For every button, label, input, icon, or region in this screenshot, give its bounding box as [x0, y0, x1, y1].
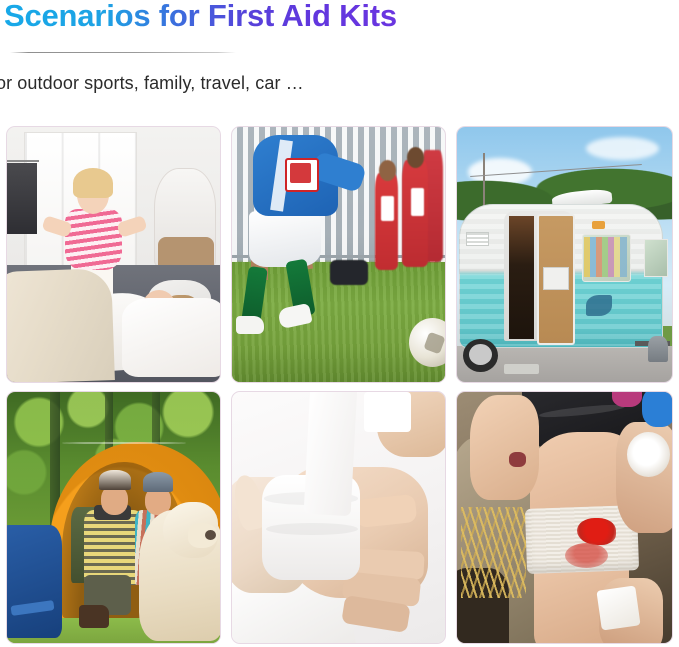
dog-nose — [205, 530, 216, 540]
man-beanie — [99, 470, 131, 490]
bib-logo — [290, 163, 311, 183]
bandage-roll-upper — [627, 432, 670, 477]
wardrobe-clothes — [7, 163, 37, 234]
title-divider — [10, 52, 236, 53]
dry-grass — [461, 507, 526, 597]
travel-camper-scene — [457, 127, 672, 382]
white-pillow — [122, 298, 220, 377]
bandage-roll-lower — [596, 585, 640, 630]
blood-stain-secondary — [565, 543, 608, 568]
jersey-number-one — [381, 196, 394, 222]
blue-clothing-accent — [642, 392, 672, 427]
bleeding-knee-scene — [457, 392, 672, 643]
blue-backpack — [7, 525, 62, 638]
gallery-image-travel-camper[interactable] — [456, 126, 673, 383]
camping-scene — [7, 392, 220, 643]
soccer-shoe-left — [236, 316, 264, 334]
gallery-image-home-family[interactable] — [6, 126, 221, 383]
gallery-image-youth-soccer[interactable] — [231, 126, 446, 383]
window-stickers — [584, 237, 627, 278]
painted-fingernail — [509, 452, 526, 467]
blood-stain-primary — [577, 518, 616, 546]
bandaging-hand-scene — [232, 392, 445, 643]
door-window — [543, 267, 569, 289]
youth-soccer-scene — [232, 127, 445, 382]
gauze-strip — [303, 392, 357, 516]
amber-marker-light — [592, 221, 605, 229]
background-player-one — [375, 173, 398, 270]
jersey-number-two — [411, 188, 424, 216]
background-player-head-two — [407, 147, 424, 167]
open-doorway — [509, 216, 535, 338]
utility-pole — [483, 153, 485, 209]
rear-window — [644, 239, 668, 277]
gallery-image-bandaging-hand[interactable] — [231, 391, 446, 644]
page-title: Scenarios for First Aid Kits — [4, 0, 397, 34]
hiking-boot — [79, 605, 109, 628]
entry-step — [504, 364, 538, 374]
page-subtitle: or outdoor sports, family, travel, car … — [0, 73, 304, 94]
toddler-striped-shirt — [65, 209, 123, 270]
beige-blanket — [7, 268, 115, 382]
home-family-scene — [7, 127, 220, 382]
gallery-image-bleeding-knee[interactable] — [456, 391, 673, 644]
gallery-image-camping-couple-dog[interactable] — [6, 391, 221, 644]
background-player-head-one — [379, 160, 396, 180]
propane-tank — [648, 336, 667, 362]
player-white-shorts — [249, 211, 321, 267]
camper-side-logo — [586, 295, 612, 315]
clothes-rod — [7, 160, 39, 162]
sports-bag — [330, 260, 368, 286]
side-vent — [466, 232, 490, 247]
pink-clothing-accent — [612, 392, 642, 407]
scenario-image-grid — [6, 126, 673, 644]
toddler-hair — [73, 168, 113, 199]
woman-beanie — [143, 472, 173, 492]
gauze-roll — [364, 392, 411, 432]
gauze-layer-two — [266, 523, 358, 536]
left-hand — [470, 395, 539, 500]
